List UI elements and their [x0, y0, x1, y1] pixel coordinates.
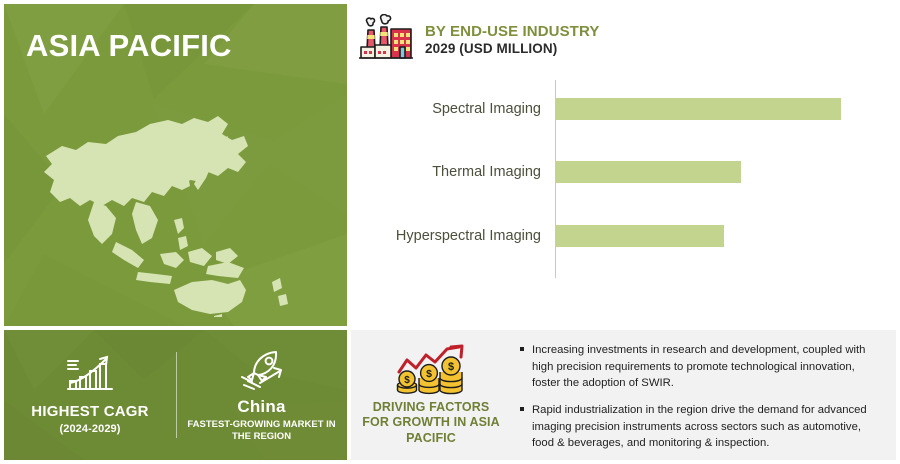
- region-panel: ASIA PACIFIC: [4, 4, 347, 326]
- driving-factors-heading: DRIVING FACTORS FOR GROWTH IN ASIA PACIF…: [359, 400, 503, 447]
- rocket-icon: [234, 347, 290, 391]
- chart-subtitle: 2029 (USD MILLION): [425, 41, 599, 56]
- bar-label: Thermal Imaging: [432, 164, 541, 180]
- bullet-item: Rapid industrialization in the region dr…: [519, 402, 882, 452]
- bullet-item: Increasing investments in research and d…: [519, 342, 882, 392]
- driving-factors-heading-block: $ $: [351, 330, 511, 460]
- bar-label: Hyperspectral Imaging: [396, 228, 541, 244]
- chart-title-block: BY END-USE INDUSTRY 2029 (USD MILLION): [425, 24, 599, 56]
- bar-row: Thermal Imaging: [351, 161, 896, 183]
- highest-cagr-label: HIGHEST CAGR: [31, 403, 148, 420]
- bar-label: Spectral Imaging: [432, 101, 541, 117]
- svg-text:$: $: [448, 361, 454, 373]
- asia-pacific-infographic: ASIA PACIFIC: [0, 0, 900, 464]
- bar-fill: [556, 225, 724, 247]
- coin-stacks-growth-icon: $ $: [389, 344, 473, 396]
- bar-fill: [556, 161, 741, 183]
- chart-header: BY END-USE INDUSTRY 2029 (USD MILLION): [357, 14, 599, 66]
- region-stats-band: HIGHEST CAGR (2024-2029) China FASTEST-G: [4, 330, 347, 460]
- bar-fill: [556, 98, 841, 120]
- stat-fastest-growing-country: China FASTEST-GROWING MARKET IN THE REGI…: [176, 330, 347, 460]
- asia-pacific-map-icon: [32, 102, 322, 317]
- svg-text:$: $: [426, 368, 432, 380]
- growth-bar-chart-icon: [62, 353, 118, 397]
- bar-row: Spectral Imaging: [351, 98, 896, 120]
- chart-panel: BY END-USE INDUSTRY 2029 (USD MILLION) S…: [351, 4, 896, 326]
- bar-row: Hyperspectral Imaging: [351, 225, 896, 247]
- stat-highest-cagr: HIGHEST CAGR (2024-2029): [4, 330, 176, 460]
- factory-icon: [357, 14, 415, 66]
- driving-factors-bullets: Increasing investments in research and d…: [511, 330, 896, 460]
- svg-text:$: $: [404, 375, 410, 386]
- bar-chart-plot: Spectral Imaging Thermal Imaging Hypersp…: [351, 80, 896, 290]
- chart-title: BY END-USE INDUSTRY: [425, 24, 599, 41]
- driving-factors-panel: $ $: [351, 330, 896, 460]
- page-title: ASIA PACIFIC: [26, 28, 232, 64]
- country-descriptor: FASTEST-GROWING MARKET IN THE REGION: [184, 419, 339, 443]
- country-name: China: [237, 397, 285, 417]
- highest-cagr-period: (2024-2029): [59, 423, 120, 437]
